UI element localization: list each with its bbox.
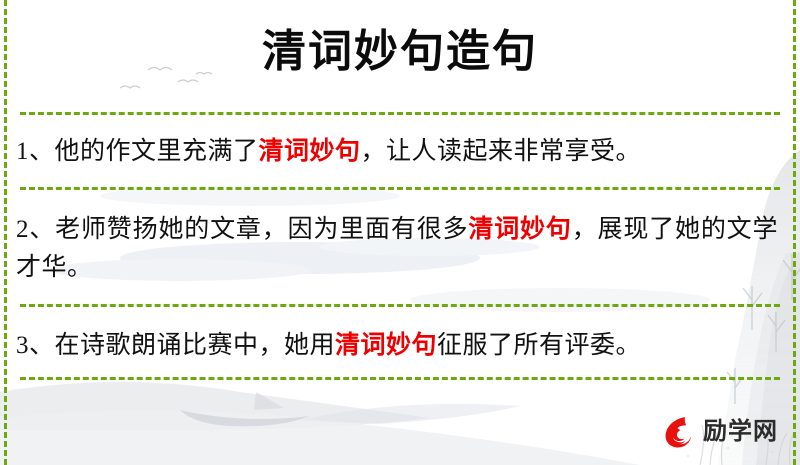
sentence-3-index: 3、 [16, 332, 55, 359]
sentence-2-keyword: 清词妙句 [468, 216, 571, 243]
sentence-2-text-before: 老师赞扬她的文章，因为里面有很多 [55, 216, 468, 243]
separator-dashed-1 [20, 112, 780, 115]
sentence-1-text-before: 他的作文里充满了 [55, 138, 259, 165]
sentence-2-index: 2、 [16, 216, 55, 243]
separator-dashed-2 [20, 187, 780, 190]
sentence-1-text-after: ，让人读起来非常享受。 [361, 138, 642, 165]
separator-dashed-3 [20, 304, 780, 307]
sentence-3-keyword: 清词妙句 [335, 332, 437, 359]
page-title: 清词妙句造句 [0, 24, 800, 79]
example-sentence-3: 3、在诗歌朗诵比赛中，她用清词妙句征服了所有评委。 [16, 327, 778, 365]
swirl-flame-icon [659, 413, 697, 451]
brand-name: 励学网 [703, 420, 778, 444]
example-sentence-2: 2、老师赞扬她的文章，因为里面有很多清词妙句，展现了她的文学才华。 [16, 211, 778, 287]
sentence-1-index: 1、 [16, 138, 55, 165]
page-root: 清词妙句造句 1、他的作文里充满了清词妙句，让人读起来非常享受。 2、老师赞扬她… [0, 0, 800, 465]
page-border-left-dashed [4, 0, 7, 465]
sentence-3-text-before: 在诗歌朗诵比赛中，她用 [55, 332, 336, 359]
watermark-logo: 励学网 [659, 413, 778, 451]
example-sentence-1: 1、他的作文里充满了清词妙句，让人读起来非常享受。 [16, 133, 778, 171]
content-area: 清词妙句造句 1、他的作文里充满了清词妙句，让人读起来非常享受。 2、老师赞扬她… [0, 0, 800, 465]
page-border-right-dashed [793, 0, 796, 465]
sentence-3-text-after: 征服了所有评委。 [437, 332, 641, 359]
sentence-1-keyword: 清词妙句 [259, 138, 361, 165]
separator-dashed-4 [20, 377, 780, 380]
